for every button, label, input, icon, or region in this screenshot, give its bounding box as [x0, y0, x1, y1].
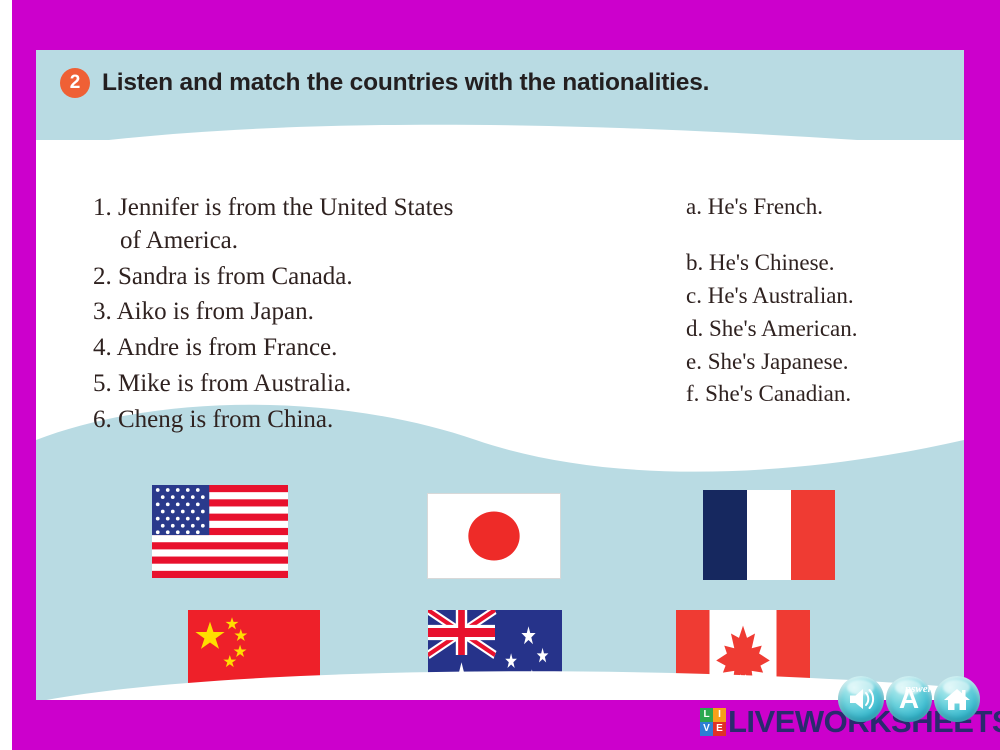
item-text: She's Japanese.	[708, 349, 849, 374]
list-item[interactable]: d. She's American.	[686, 314, 946, 344]
item-number: 3.	[93, 298, 112, 325]
list-item[interactable]: 5. Mike is from Australia.	[93, 368, 563, 401]
flag-japan	[427, 493, 561, 579]
list-item[interactable]: c. He's Australian.	[686, 281, 946, 311]
home-button[interactable]	[934, 676, 980, 722]
flag-france	[703, 490, 835, 580]
item-text: Andre is from France.	[117, 334, 338, 361]
exercise-number-badge: 2	[60, 68, 90, 98]
home-icon	[943, 686, 971, 712]
list-item[interactable]: a. He's French.	[686, 192, 946, 222]
card-body: 1. Jennifer is from the United States of…	[36, 140, 964, 700]
live-squares-icon: L I V E	[700, 708, 726, 736]
item-text: Jennifer is from the United States of Am…	[118, 194, 453, 254]
page-title: Listen and match the countries with the …	[102, 69, 709, 97]
item-text: He's Australian.	[708, 283, 854, 308]
nationalities-column: a. He's French. b. He's Chinese. c. He's…	[686, 192, 946, 412]
item-text: He's Chinese.	[709, 250, 835, 275]
item-number: 6.	[93, 406, 112, 433]
worksheet-page: 2 Listen and match the countries with th…	[0, 0, 1000, 750]
item-text: He's French.	[708, 194, 823, 219]
answer-button[interactable]: A nswer	[886, 676, 932, 722]
live-square-i: I	[713, 708, 726, 722]
item-number: 4.	[93, 334, 112, 361]
list-item[interactable]: 6. Cheng is from China.	[93, 404, 563, 437]
item-letter: c.	[686, 283, 702, 308]
item-number: 2.	[93, 263, 112, 290]
flag-united-states	[152, 485, 288, 578]
list-item[interactable]: f. She's Canadian.	[686, 379, 946, 409]
list-item[interactable]: 3. Aiko is from Japan.	[93, 296, 563, 329]
answer-label: A	[899, 685, 919, 713]
list-item[interactable]: e. She's Japanese.	[686, 347, 946, 377]
item-letter: e.	[686, 349, 702, 374]
exercise-title-row: 2 Listen and match the countries with th…	[60, 68, 709, 98]
item-text: Aiko is from Japan.	[117, 298, 314, 325]
item-text: Cheng is from China.	[118, 406, 333, 433]
list-item[interactable]: 1. Jennifer is from the United States of…	[93, 192, 563, 258]
speaker-icon	[846, 686, 876, 712]
item-text: She's Canadian.	[705, 381, 851, 406]
live-square-v: V	[700, 722, 713, 736]
worksheet-card: 2 Listen and match the countries with th…	[36, 50, 964, 700]
list-item[interactable]: 4. Andre is from France.	[93, 332, 563, 365]
item-number: 5.	[93, 370, 112, 397]
item-letter: a.	[686, 194, 702, 219]
live-square-l: L	[700, 708, 713, 722]
item-letter: b.	[686, 250, 703, 275]
audio-button[interactable]	[838, 676, 884, 722]
item-text: Mike is from Australia.	[118, 370, 351, 397]
item-letter: d.	[686, 316, 703, 341]
countries-column: 1. Jennifer is from the United States of…	[93, 192, 563, 439]
list-item[interactable]: 2. Sandra is from Canada.	[93, 261, 563, 294]
item-text: Sandra is from Canada.	[118, 263, 353, 290]
item-text: She's American.	[709, 316, 858, 341]
live-square-e: E	[713, 722, 726, 736]
item-letter: f.	[686, 381, 699, 406]
item-number: 1.	[93, 194, 112, 221]
list-item[interactable]: b. He's Chinese.	[686, 248, 946, 278]
